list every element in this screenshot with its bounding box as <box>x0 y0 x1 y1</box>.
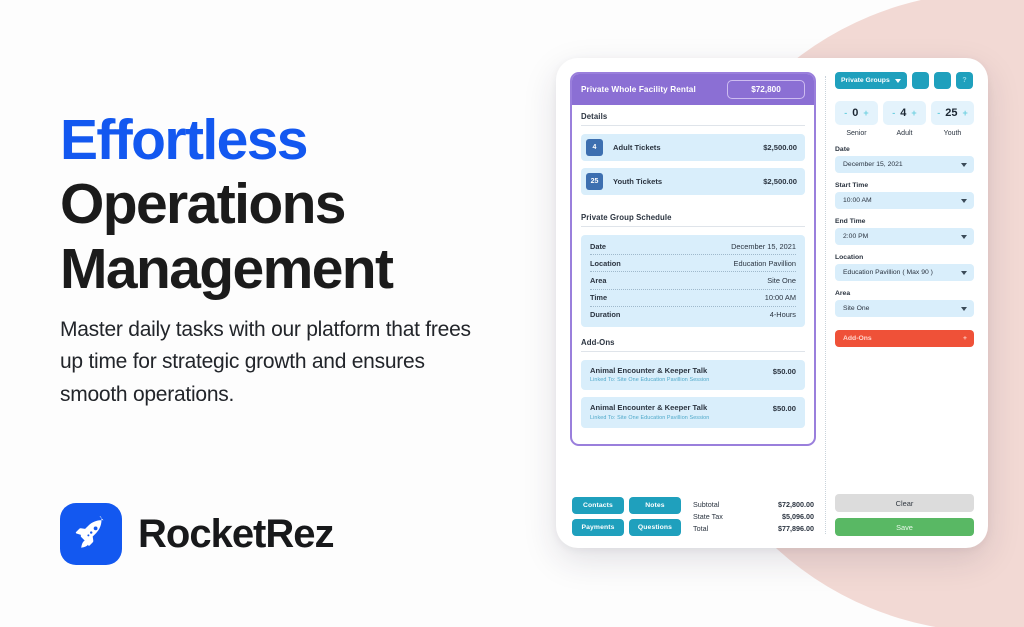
guest-counter-senior: - 0 + Senior <box>835 101 878 137</box>
start-time-value: 10:00 AM <box>843 197 872 204</box>
start-time-field: Start Time 10:00 AM <box>835 182 974 209</box>
schedule-value: December 15, 2021 <box>731 242 796 251</box>
addons-section-title: Add-Ons <box>581 338 805 352</box>
details-section-title: Details <box>581 112 805 126</box>
date-field: Date December 15, 2021 <box>835 146 974 173</box>
field-label: End Time <box>835 218 974 225</box>
toolbar-icon-button-1[interactable] <box>912 72 929 89</box>
addon-text: Animal Encounter & Keeper Talk Linked To… <box>590 403 773 421</box>
date-select[interactable]: December 15, 2021 <box>835 156 974 173</box>
schedule-section-title: Private Group Schedule <box>581 213 805 227</box>
table-row: Time 10:00 AM <box>590 290 796 307</box>
headline-line-2: Operations <box>60 172 530 236</box>
schedule-key: Location <box>590 259 621 268</box>
ticket-quantity: 25 <box>586 173 603 190</box>
schedule-value: 4-Hours <box>770 310 796 319</box>
addon-price: $50.00 <box>773 403 796 413</box>
table-row[interactable]: 4 Adult Tickets $2,500.00 <box>581 134 805 161</box>
schedule-key: Time <box>590 293 607 302</box>
total-value: $77,896.00 <box>778 524 814 533</box>
increment-icon[interactable]: + <box>911 108 916 118</box>
total-key: Subtotal <box>693 500 719 509</box>
date-value: December 15, 2021 <box>843 161 903 168</box>
quantity-stepper[interactable]: - 25 + <box>931 101 974 125</box>
booking-form-panel: Private Groups ? - 0 + Senior <box>835 72 976 536</box>
table-row[interactable]: 25 Youth Tickets $2,500.00 <box>581 168 805 195</box>
table-row: Location Education Pavillion <box>590 255 796 272</box>
page-title: Effortless Operations Management <box>60 108 530 301</box>
schedule-key: Date <box>590 242 606 251</box>
guest-counters: - 0 + Senior - 4 + Adult - <box>835 101 974 137</box>
increment-icon[interactable]: + <box>863 108 868 118</box>
payments-button[interactable]: Payments <box>572 519 624 536</box>
stepper-label: Adult <box>883 130 926 137</box>
adult-count: 4 <box>900 107 906 119</box>
end-time-value: 2:00 PM <box>843 233 868 240</box>
location-select[interactable]: Education Pavillion ( Max 90 ) <box>835 264 974 281</box>
senior-count: 0 <box>852 107 858 119</box>
quantity-stepper[interactable]: - 0 + <box>835 101 878 125</box>
action-button-group: Contacts Notes Payments Questions <box>572 497 681 536</box>
guest-counter-youth: - 25 + Youth <box>931 101 974 137</box>
marketing-column: Effortless Operations Management Master … <box>60 0 530 627</box>
toolbar-icon-button-2[interactable] <box>934 72 951 89</box>
addon-name: Animal Encounter & Keeper Talk <box>590 366 773 375</box>
field-label: Area <box>835 290 974 297</box>
table-row: Area Site One <box>590 272 796 289</box>
addon-price: $50.00 <box>773 366 796 376</box>
ticket-name: Youth Tickets <box>613 177 662 186</box>
rocket-icon <box>60 503 122 565</box>
addon-link-note: Linked To: Site One Education Pavillion … <box>590 377 773 383</box>
list-item[interactable]: Animal Encounter & Keeper Talk Linked To… <box>581 397 805 428</box>
schedule-key: Area <box>590 276 606 285</box>
end-time-field: End Time 2:00 PM <box>835 218 974 245</box>
chevron-down-icon <box>961 163 967 167</box>
booking-title: Private Whole Facility Rental <box>581 85 696 94</box>
headline-accent-line: Effortless <box>60 108 530 172</box>
decrement-icon[interactable]: - <box>892 108 895 118</box>
end-time-select[interactable]: 2:00 PM <box>835 228 974 245</box>
schedule-table: Date December 15, 2021 Location Educatio… <box>581 235 805 327</box>
group-type-select[interactable]: Private Groups <box>835 72 907 89</box>
ticket-name: Adult Tickets <box>613 143 661 152</box>
location-value: Education Pavillion ( Max 90 ) <box>843 269 933 276</box>
increment-icon[interactable]: + <box>962 108 967 118</box>
total-key: Total <box>693 524 708 533</box>
area-select[interactable]: Site One <box>835 300 974 317</box>
table-row: Duration 4-Hours <box>590 307 796 323</box>
spacer <box>581 327 805 338</box>
field-label: Location <box>835 254 974 261</box>
form-toolbar: Private Groups ? <box>835 72 974 89</box>
add-addons-button[interactable]: Add-Ons + <box>835 330 974 347</box>
help-button[interactable]: ? <box>956 72 973 89</box>
app-window: Private Whole Facility Rental $72,800 De… <box>556 58 988 548</box>
headline-line-3: Management <box>60 237 530 301</box>
total-value: $72,800.00 <box>778 500 814 509</box>
start-time-select[interactable]: 10:00 AM <box>835 192 974 209</box>
booking-panel: Private Whole Facility Rental $72,800 De… <box>570 72 816 446</box>
decrement-icon[interactable]: - <box>844 108 847 118</box>
quantity-stepper[interactable]: - 4 + <box>883 101 926 125</box>
addon-link-note: Linked To: Site One Education Pavillion … <box>590 415 773 421</box>
ticket-price: $2,500.00 <box>763 143 797 152</box>
chevron-down-icon <box>961 199 967 203</box>
clear-button[interactable]: Clear <box>835 494 974 512</box>
table-row: Date December 15, 2021 <box>590 238 796 255</box>
chevron-down-icon <box>961 271 967 275</box>
subheadline: Master daily tasks with our platform tha… <box>60 314 490 411</box>
plus-icon: + <box>963 335 967 342</box>
list-item[interactable]: Animal Encounter & Keeper Talk Linked To… <box>581 360 805 391</box>
booking-price[interactable]: $72,800 <box>727 80 805 99</box>
table-row: Subtotal $72,800.00 <box>693 498 814 510</box>
schedule-value: Education Pavillion <box>734 259 796 268</box>
ticket-quantity: 4 <box>586 139 603 156</box>
booking-header: Private Whole Facility Rental $72,800 <box>572 74 814 105</box>
stepper-label: Senior <box>835 130 878 137</box>
table-row: Total $77,896.00 <box>693 522 814 534</box>
promo-slide: Effortless Operations Management Master … <box>0 0 1024 627</box>
stepper-label: Youth <box>931 130 974 137</box>
chevron-down-icon <box>961 307 967 311</box>
summary-footer: Contacts Notes Payments Questions Subtot… <box>570 487 816 536</box>
totals-table: Subtotal $72,800.00 State Tax $5,096.00 … <box>693 497 814 535</box>
questions-button[interactable]: Questions <box>629 519 681 536</box>
add-addons-label: Add-Ons <box>843 335 872 342</box>
location-field: Location Education Pavillion ( Max 90 ) <box>835 254 974 281</box>
notes-button[interactable]: Notes <box>629 497 681 514</box>
guest-counter-adult: - 4 + Adult <box>883 101 926 137</box>
addon-text: Animal Encounter & Keeper Talk Linked To… <box>590 366 773 384</box>
brand-name: RocketRez <box>138 512 334 557</box>
total-key: State Tax <box>693 512 723 521</box>
area-field: Area Site One <box>835 290 974 317</box>
panel-divider <box>825 76 826 534</box>
chevron-down-icon <box>895 79 901 83</box>
group-type-value: Private Groups <box>841 77 890 84</box>
ticket-price: $2,500.00 <box>763 177 797 186</box>
table-row: State Tax $5,096.00 <box>693 510 814 522</box>
schedule-key: Duration <box>590 310 620 319</box>
contacts-button[interactable]: Contacts <box>572 497 624 514</box>
booking-summary-panel: Private Whole Facility Rental $72,800 De… <box>570 72 816 536</box>
field-label: Start Time <box>835 182 974 189</box>
spacer <box>581 202 805 213</box>
booking-body: Details 4 Adult Tickets $2,500.00 25 You… <box>572 105 814 444</box>
area-value: Site One <box>843 305 869 312</box>
addon-name: Animal Encounter & Keeper Talk <box>590 403 773 412</box>
total-value: $5,096.00 <box>782 512 814 521</box>
save-button[interactable]: Save <box>835 518 974 536</box>
chevron-down-icon <box>961 235 967 239</box>
youth-count: 25 <box>945 107 957 119</box>
schedule-value: 10:00 AM <box>765 293 796 302</box>
field-label: Date <box>835 146 974 153</box>
brand-logo: RocketRez <box>60 503 334 565</box>
schedule-value: Site One <box>767 276 796 285</box>
decrement-icon[interactable]: - <box>937 108 940 118</box>
form-actions: Clear Save <box>835 493 974 537</box>
